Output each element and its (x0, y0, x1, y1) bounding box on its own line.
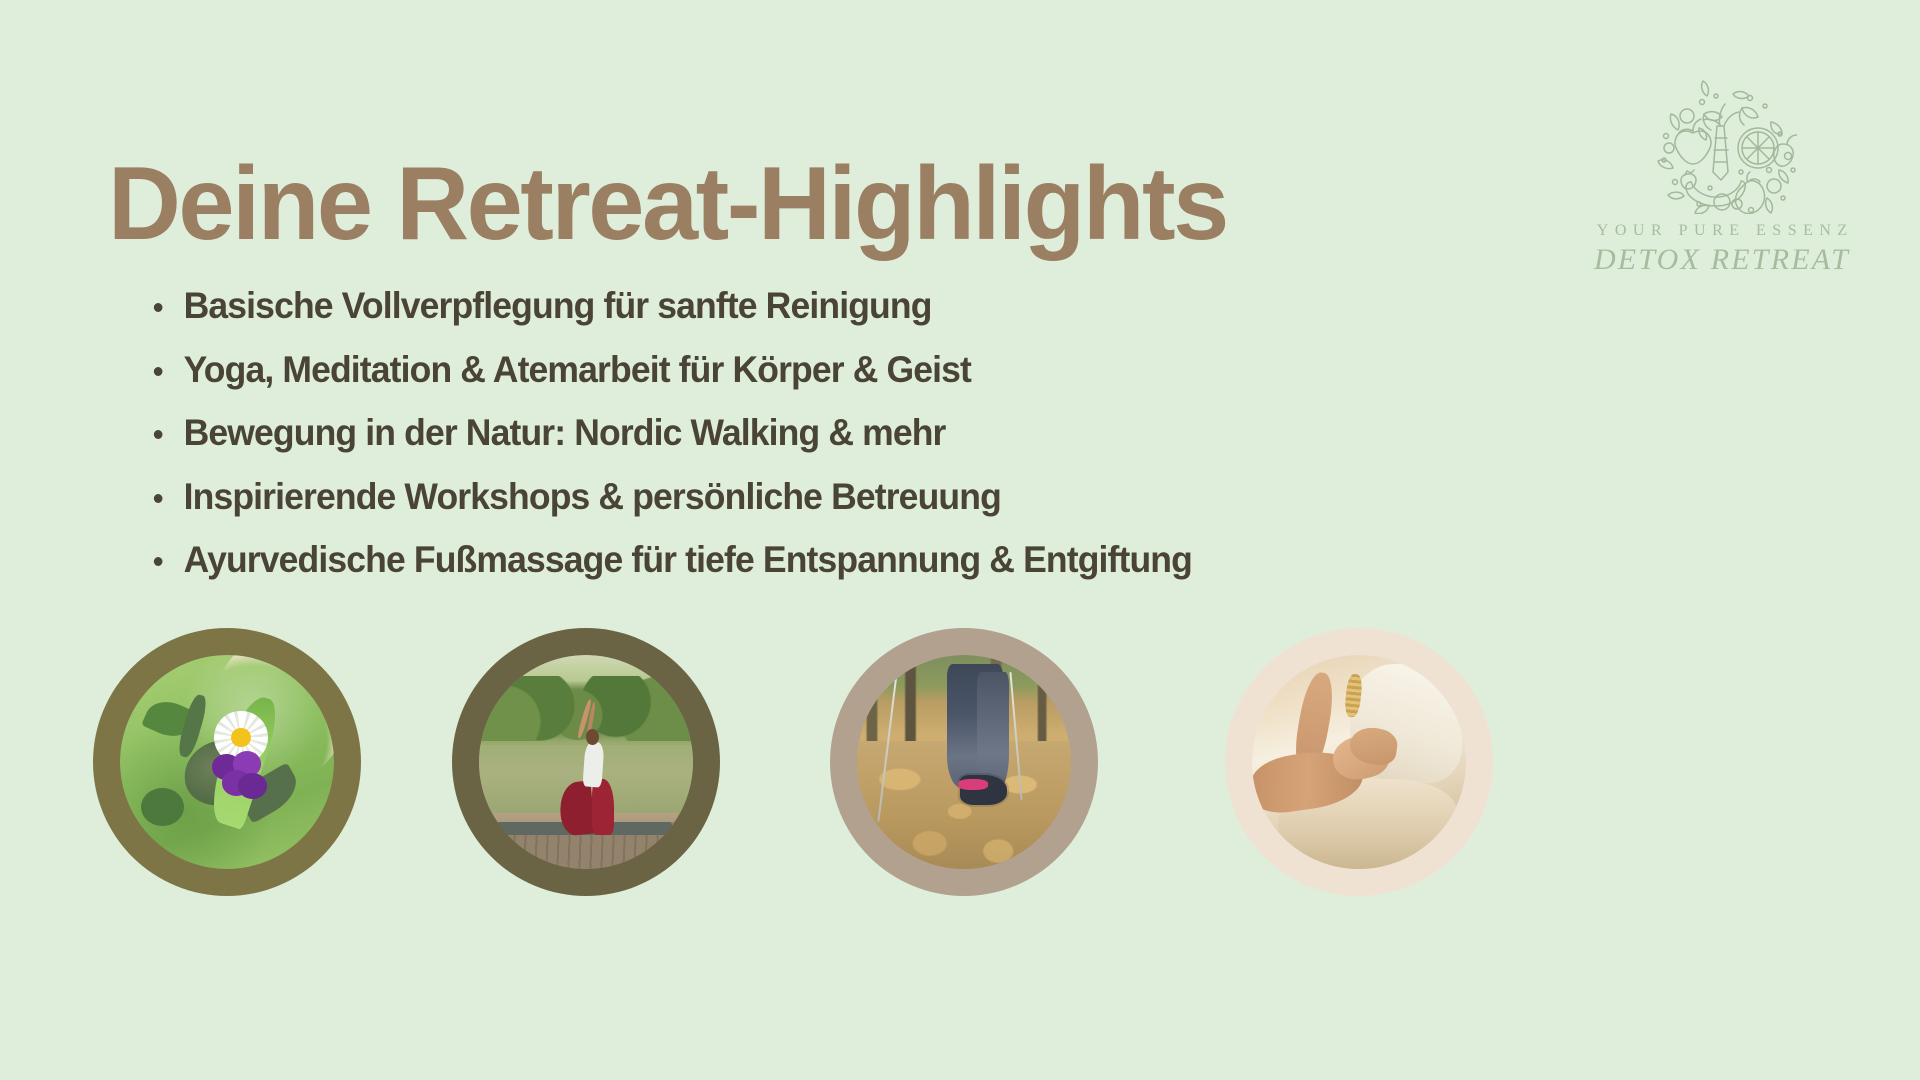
photo-ayurvedic-foot-massage (1225, 628, 1493, 896)
photo-inner (479, 655, 693, 869)
highlights-list: Basische Vollverpflegung für sanfte Rein… (150, 283, 1235, 601)
walker-trousers (977, 672, 1009, 788)
list-item: Ayurvedische Fußmassage für tiefe Entspa… (150, 537, 1192, 584)
shoe-pink-accent (958, 779, 988, 790)
page-title: Deine Retreat-Highlights (108, 148, 1227, 260)
list-item-label: Inspirierende Workshops & persönliche Be… (184, 476, 1001, 517)
photo-nordic-walking (830, 628, 1098, 896)
logo-tagline: YOUR PURE ESSENZ (1572, 222, 1872, 240)
list-item: Bewegung in der Natur: Nordic Walking & … (150, 410, 1192, 457)
photo-yoga-at-the-lake (452, 628, 720, 896)
list-item-label: Basische Vollverpflegung für sanfte Rein… (184, 285, 932, 326)
yoga-figure (565, 702, 638, 835)
violet-flower-icon (214, 751, 265, 800)
heart-of-vegetables-icon (1647, 78, 1797, 214)
list-item: Yoga, Meditation & Atemarbeit für Körper… (150, 347, 1192, 394)
list-item-label: Ayurvedische Fußmassage für tiefe Entspa… (184, 539, 1192, 580)
photo-inner (857, 655, 1071, 869)
yoga-image (479, 655, 693, 869)
list-item: Basische Vollverpflegung für sanfte Rein… (150, 283, 1192, 330)
round-leaf-icon (141, 788, 184, 827)
list-item-label: Yoga, Meditation & Atemarbeit für Körper… (184, 349, 971, 390)
brand-logo: YOUR PURE ESSENZ DETOX RETREAT (1572, 78, 1872, 277)
soup-image (120, 655, 334, 869)
photo-green-herb-soup (93, 628, 361, 896)
list-item: Inspirierende Workshops & persönliche Be… (150, 474, 1192, 521)
foot-massage-image (1252, 655, 1466, 869)
photo-inner (120, 655, 334, 869)
list-item-label: Bewegung in der Natur: Nordic Walking & … (184, 412, 946, 453)
nordic-walking-image (857, 655, 1071, 869)
slide-canvas: Deine Retreat-Highlights (0, 0, 1920, 1080)
photo-inner (1252, 655, 1466, 869)
logo-brand-name: DETOX RETREAT (1572, 243, 1872, 277)
